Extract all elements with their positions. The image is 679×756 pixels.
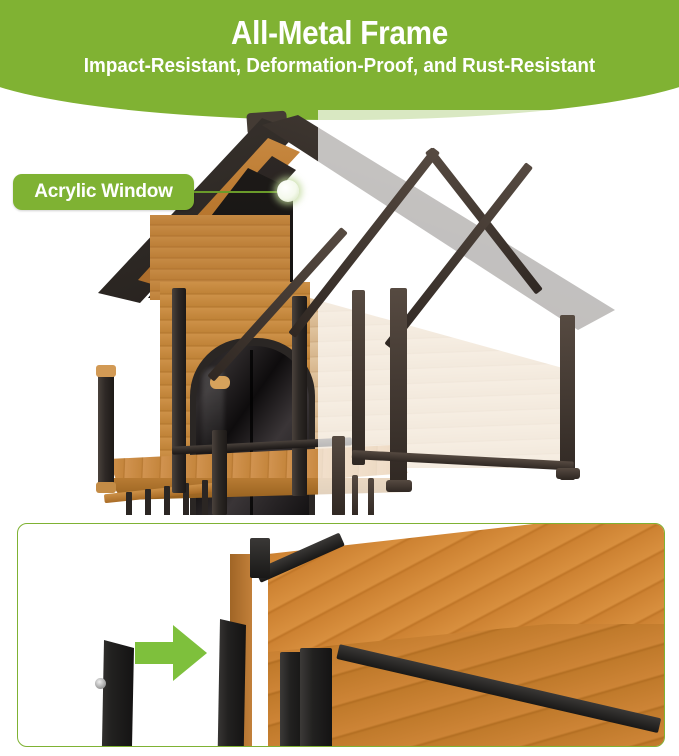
detail-panel [17, 523, 665, 747]
assembly-direction-arrow [135, 625, 207, 681]
railing-baluster-right [352, 475, 358, 515]
acrylic-window-callout: Acrylic Window [13, 174, 194, 210]
arrow-head [173, 625, 207, 681]
frame-foot-interior [386, 480, 412, 492]
callout-leader-line [193, 191, 285, 193]
porch-post-front-right [212, 430, 227, 515]
hero-product-image [0, 110, 679, 515]
banner-text-block: All-Metal Frame Impact-Resistant, Deform… [0, 0, 679, 77]
railing-baluster-right [368, 478, 374, 515]
frame-post-interior-left [352, 290, 365, 465]
post-foot-left [96, 482, 116, 493]
arrow-shaft [135, 642, 177, 664]
callout-label: Acrylic Window [13, 174, 194, 210]
porch-corner-post-left [98, 372, 114, 490]
callout-marker-dot [277, 180, 299, 202]
product-infographic: All-Metal Frame Impact-Resistant, Deform… [0, 0, 679, 756]
railing-baluster [164, 486, 170, 515]
detail-loose-post [96, 640, 134, 747]
banner-subtitle: Impact-Resistant, Deformation-Proof, and… [27, 55, 652, 78]
railing-post-right [332, 436, 345, 515]
detail-installed-post-left [216, 619, 246, 747]
detail-channel-top-cap [250, 538, 270, 578]
screw-icon [95, 678, 106, 689]
frame-post-rear-right [560, 315, 575, 480]
railing-baluster [145, 489, 151, 515]
railing-baluster [126, 492, 132, 515]
banner-title: All-Metal Frame [34, 16, 645, 51]
post-wood-cap-left [96, 365, 116, 377]
header-banner: All-Metal Frame Impact-Resistant, Deform… [0, 0, 679, 126]
railing-baluster [202, 480, 208, 515]
frame-foot-right [556, 468, 580, 479]
front-post-left [172, 288, 186, 493]
detail-installed-post-right [300, 648, 332, 747]
